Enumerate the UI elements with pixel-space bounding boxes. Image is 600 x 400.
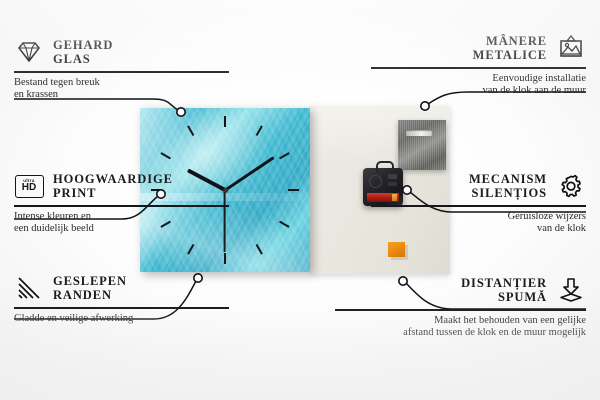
feature-title-line2: SPUMĂ [498,290,547,304]
feature-subtitle-line1: Gladde en veilige afwerking [14,313,133,324]
feature-title-line1: GEHARD [53,38,113,52]
feature-subtitle-line1: Intense kleuren en [14,211,91,222]
feature-title-line1: MÂNERE [486,34,547,48]
feature-divider [14,71,229,73]
feature-subtitle-line1: Bestand tegen breuk [14,77,100,88]
feature-subtitle-line2: een duidelijk beeld [14,223,94,234]
feature-divider [14,307,229,309]
foam-spacer [388,242,405,257]
hanger-slot [406,130,432,136]
feature-divider [371,67,586,69]
mechanism-hanging-loop [376,161,394,172]
feature-title-line1: GESLEPEN [53,274,127,288]
feature-title-line1: HOOGWAARDIGE [53,172,173,186]
infographic-canvas: GEHARD GLAS Bestand tegen breuk en krass… [0,0,600,400]
wall-mount-frame-icon [556,35,586,61]
feature-distantier-spuma[interactable]: DISTANȚIER SPUMĂ Maakt het behouden van … [335,276,586,340]
feature-subtitle-line2: van de klok aan de muur [482,85,586,96]
spacer-arrow-icon [556,277,586,303]
feature-gehard-glas[interactable]: GEHARD GLAS Bestand tegen breuk en krass… [14,38,229,102]
metal-hanger-plate [398,120,446,170]
metal-grain [398,120,446,170]
bevelled-edges-icon [14,275,44,301]
feature-title-line2: PRINT [53,186,96,200]
diamond-icon [14,39,44,65]
feature-subtitle-line1: Eenvoudige installatie [492,73,586,84]
feature-divider [371,205,586,207]
feature-title-line1: DISTANȚIER [461,276,547,290]
feature-subtitle-line2: afstand tussen de klok en de muur mogeli… [403,327,586,338]
feature-title-line2: GLAS [53,52,91,66]
ultra-hd-icon: ultra HD [14,173,44,199]
feature-title-line2: SILENȚIOS [472,186,548,200]
feature-divider [335,309,586,311]
feature-mecanism-silentios[interactable]: MECANISM SILENȚIOS Geruisloze wijzers va… [371,172,586,236]
ultra-hd-large-text: HD [22,183,36,193]
feature-title-line1: MECANISM [469,172,547,186]
feature-subtitle-line1: Maakt het behouden van een gelijke [434,315,586,326]
feature-subtitle-line1: Geruisloze wijzers [508,211,586,222]
feature-divider [14,205,229,207]
gear-icon [556,173,586,199]
feature-subtitle-line2: van de klok [537,223,586,234]
feature-title-line2: METALICE [473,48,547,62]
feature-manere-metalice[interactable]: MÂNERE METALICE Eenvoudige installatie v… [371,34,586,98]
feature-geslepen-randen[interactable]: GESLEPEN RANDEN Gladde en veilige afwerk… [14,274,229,325]
feature-title-line2: RANDEN [53,288,112,302]
feature-hoogwaardige-print[interactable]: ultra HD HOOGWAARDIGE PRINT Intense kleu… [14,172,229,236]
feature-subtitle-line2: en krassen [14,89,58,100]
